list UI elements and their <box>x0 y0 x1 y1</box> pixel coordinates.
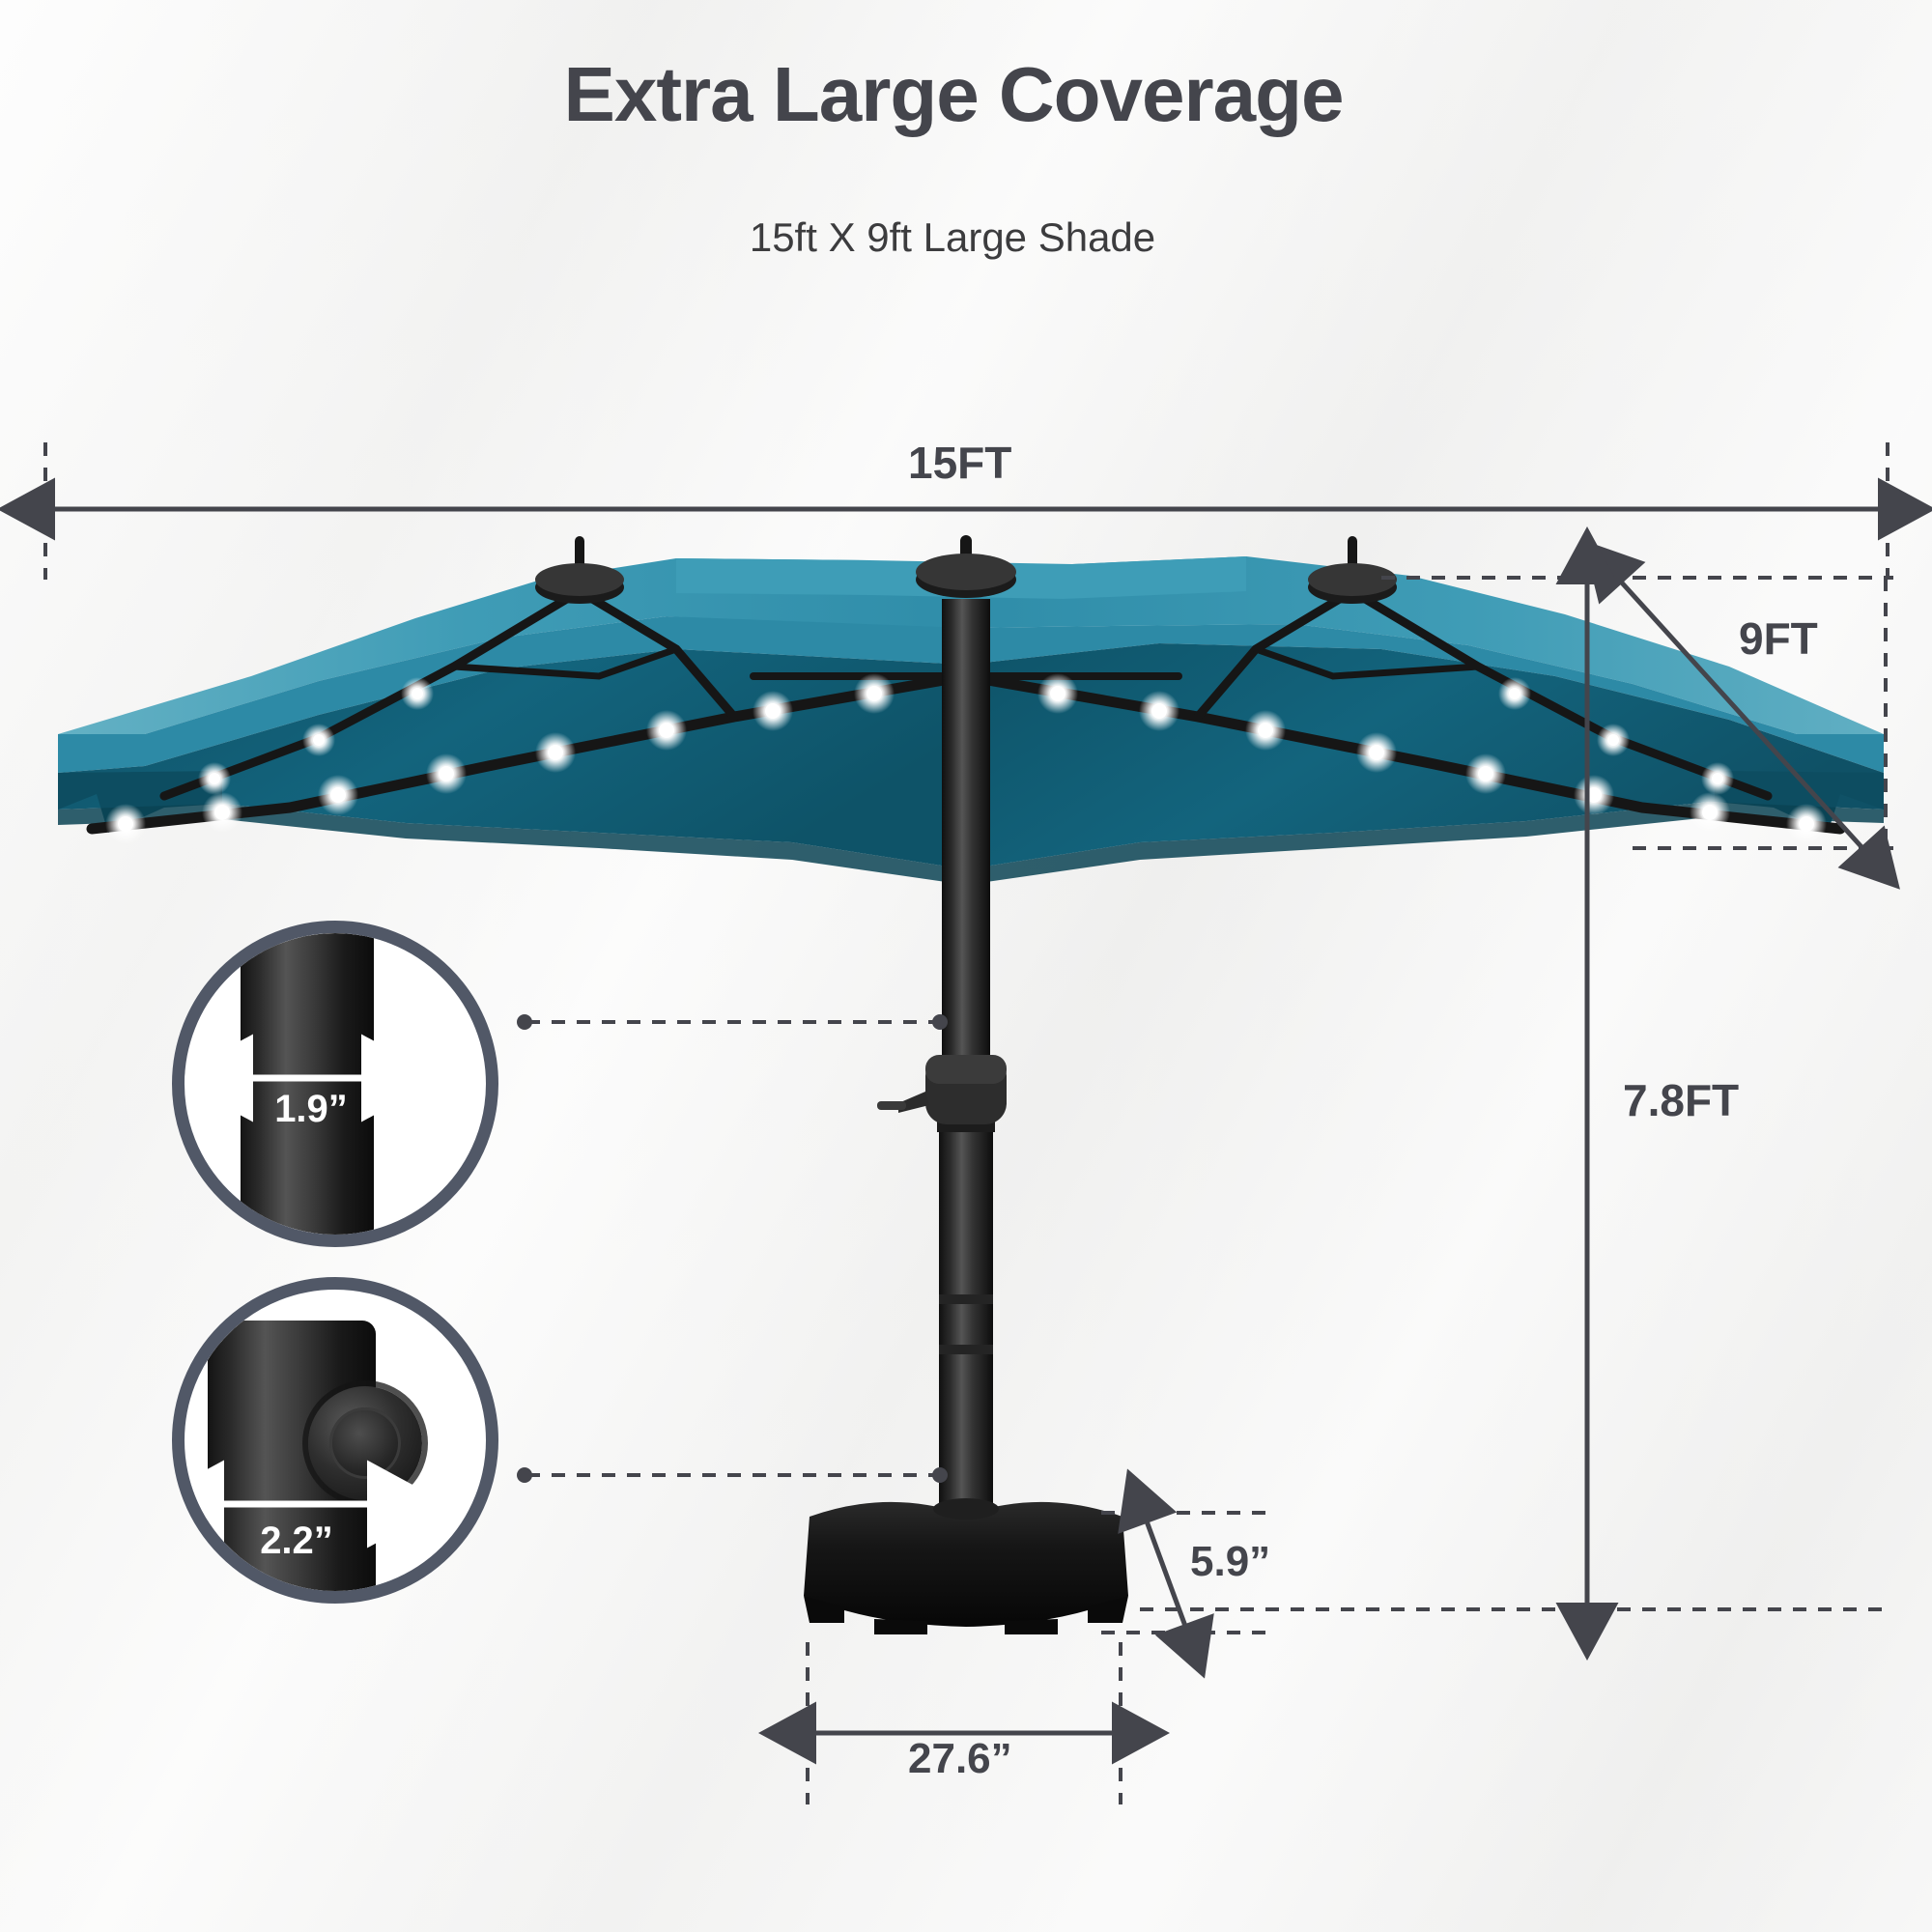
dimension-arrow-base-height <box>1146 1519 1186 1629</box>
pole-knob-closeup-icon: 2.2” <box>185 1290 486 1591</box>
white-dimension-arrow-1 <box>185 933 486 1235</box>
callout-circle-pole-diameter: 1.9” <box>172 921 498 1247</box>
diagram-canvas: Extra Large Coverage 15ft X 9ft Large Sh… <box>0 0 1932 1932</box>
dimension-label-base-height: 5.9” <box>1190 1538 1270 1586</box>
callout-circle-lower-pole-diameter: 2.2” <box>172 1277 498 1604</box>
callout-label-pole-diameter: 1.9” <box>229 1088 393 1131</box>
callout-leader-lines <box>526 1022 937 1475</box>
callout-leader-dots <box>517 1014 948 1483</box>
dimension-label-depth: 9FT <box>1739 612 1818 665</box>
pole-closeup-icon: 1.9” <box>185 933 486 1235</box>
dimension-label-base-width: 27.6” <box>908 1735 1012 1783</box>
dimension-label-width: 15FT <box>908 437 1011 489</box>
callout-label-lower-pole-diameter: 2.2” <box>210 1520 384 1563</box>
dimension-label-height: 7.8FT <box>1623 1074 1739 1126</box>
